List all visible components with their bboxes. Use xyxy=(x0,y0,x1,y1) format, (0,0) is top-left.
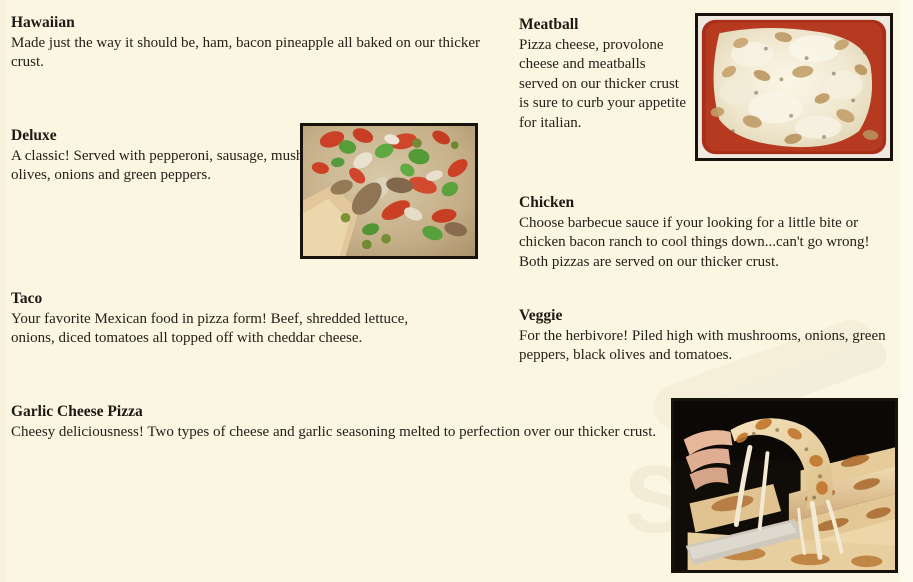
menu-item-description: For the herbivore! Piled high with mushr… xyxy=(519,327,894,366)
garlic-cheese-pizza-photo xyxy=(671,398,898,573)
menu-item-description: Made just the way it should be, ham, bac… xyxy=(11,34,481,73)
menu-item-meatball: Meatball Pizza cheese, provolone cheese … xyxy=(519,16,687,133)
menu-page: S Hawaiian Made just the way it should b… xyxy=(0,0,913,582)
menu-item-description: Pizza cheese, provolone cheese and meatb… xyxy=(519,36,687,134)
menu-item-title: Veggie xyxy=(519,307,894,325)
menu-item-taco: Taco Your favorite Mexican food in pizza… xyxy=(11,290,431,349)
garlic-cheese-pizza-image xyxy=(674,401,895,570)
watermark-dot xyxy=(665,379,672,386)
menu-item-garlic-cheese-pizza: Garlic Cheese Pizza Cheesy deliciousness… xyxy=(11,403,671,442)
menu-item-title: Meatball xyxy=(519,16,687,34)
right-edge-strip xyxy=(900,0,913,582)
meatball-pizza-image xyxy=(698,16,890,158)
menu-item-description: Choose barbecue sauce if your looking fo… xyxy=(519,214,894,273)
left-edge-strip xyxy=(0,0,6,582)
meatball-pizza-photo xyxy=(695,13,893,161)
menu-item-description: Your favorite Mexican food in pizza form… xyxy=(11,310,431,349)
menu-item-description: Cheesy deliciousness! Two types of chees… xyxy=(11,423,671,443)
menu-item-title: Garlic Cheese Pizza xyxy=(11,403,671,421)
menu-item-hawaiian: Hawaiian Made just the way it should be,… xyxy=(11,14,481,73)
deluxe-pizza-image xyxy=(303,126,475,256)
menu-item-title: Taco xyxy=(11,290,431,308)
menu-item-title: Chicken xyxy=(519,194,894,212)
deluxe-pizza-photo xyxy=(300,123,478,259)
menu-item-title: Hawaiian xyxy=(11,14,481,32)
menu-item-veggie: Veggie For the herbivore! Piled high wit… xyxy=(519,307,894,366)
menu-item-chicken: Chicken Choose barbecue sauce if your lo… xyxy=(519,194,894,272)
